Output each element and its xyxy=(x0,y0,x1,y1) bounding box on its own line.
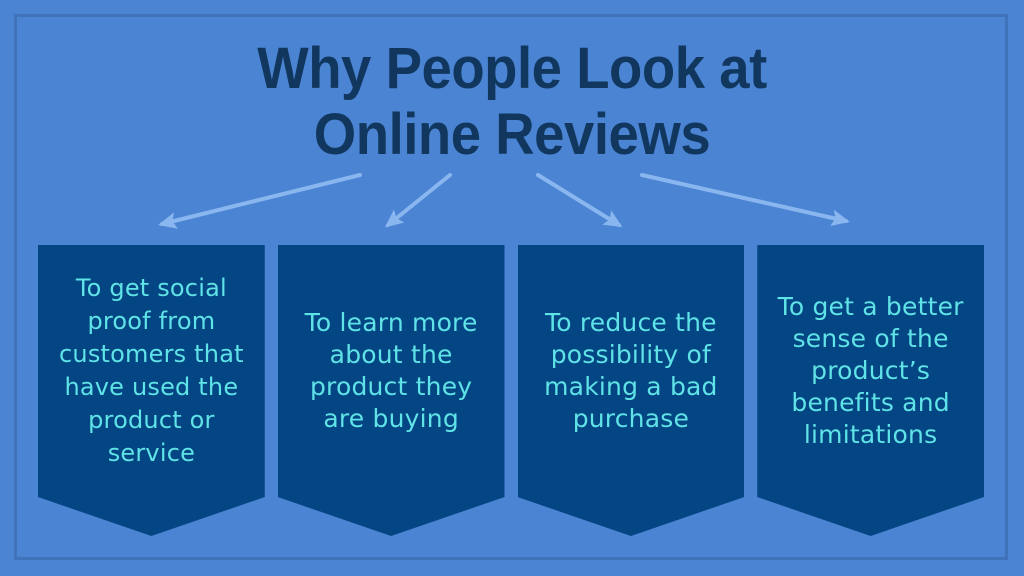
reason-card-reduce-risk: To reduce the possibility of making a ba… xyxy=(518,245,745,536)
page-title: Why People Look at Online Reviews xyxy=(31,36,994,168)
reason-card-text: To learn more about the product they are… xyxy=(284,245,499,497)
infographic-canvas: Why People Look at Online Reviews To get… xyxy=(0,0,1024,576)
reason-card-text: To reduce the possibility of making a ba… xyxy=(524,245,739,497)
reason-card-benefits-limitations: To get a better sense of the product’s b… xyxy=(757,245,984,536)
reason-card-text: To get social proof from customers that … xyxy=(44,245,259,497)
reason-card-social-proof: To get social proof from customers that … xyxy=(38,245,265,536)
reason-card-text: To get a better sense of the product’s b… xyxy=(763,245,978,497)
reason-card-learn-more: To learn more about the product they are… xyxy=(278,245,505,536)
reason-card-group: To get social proof from customers that … xyxy=(38,245,984,536)
